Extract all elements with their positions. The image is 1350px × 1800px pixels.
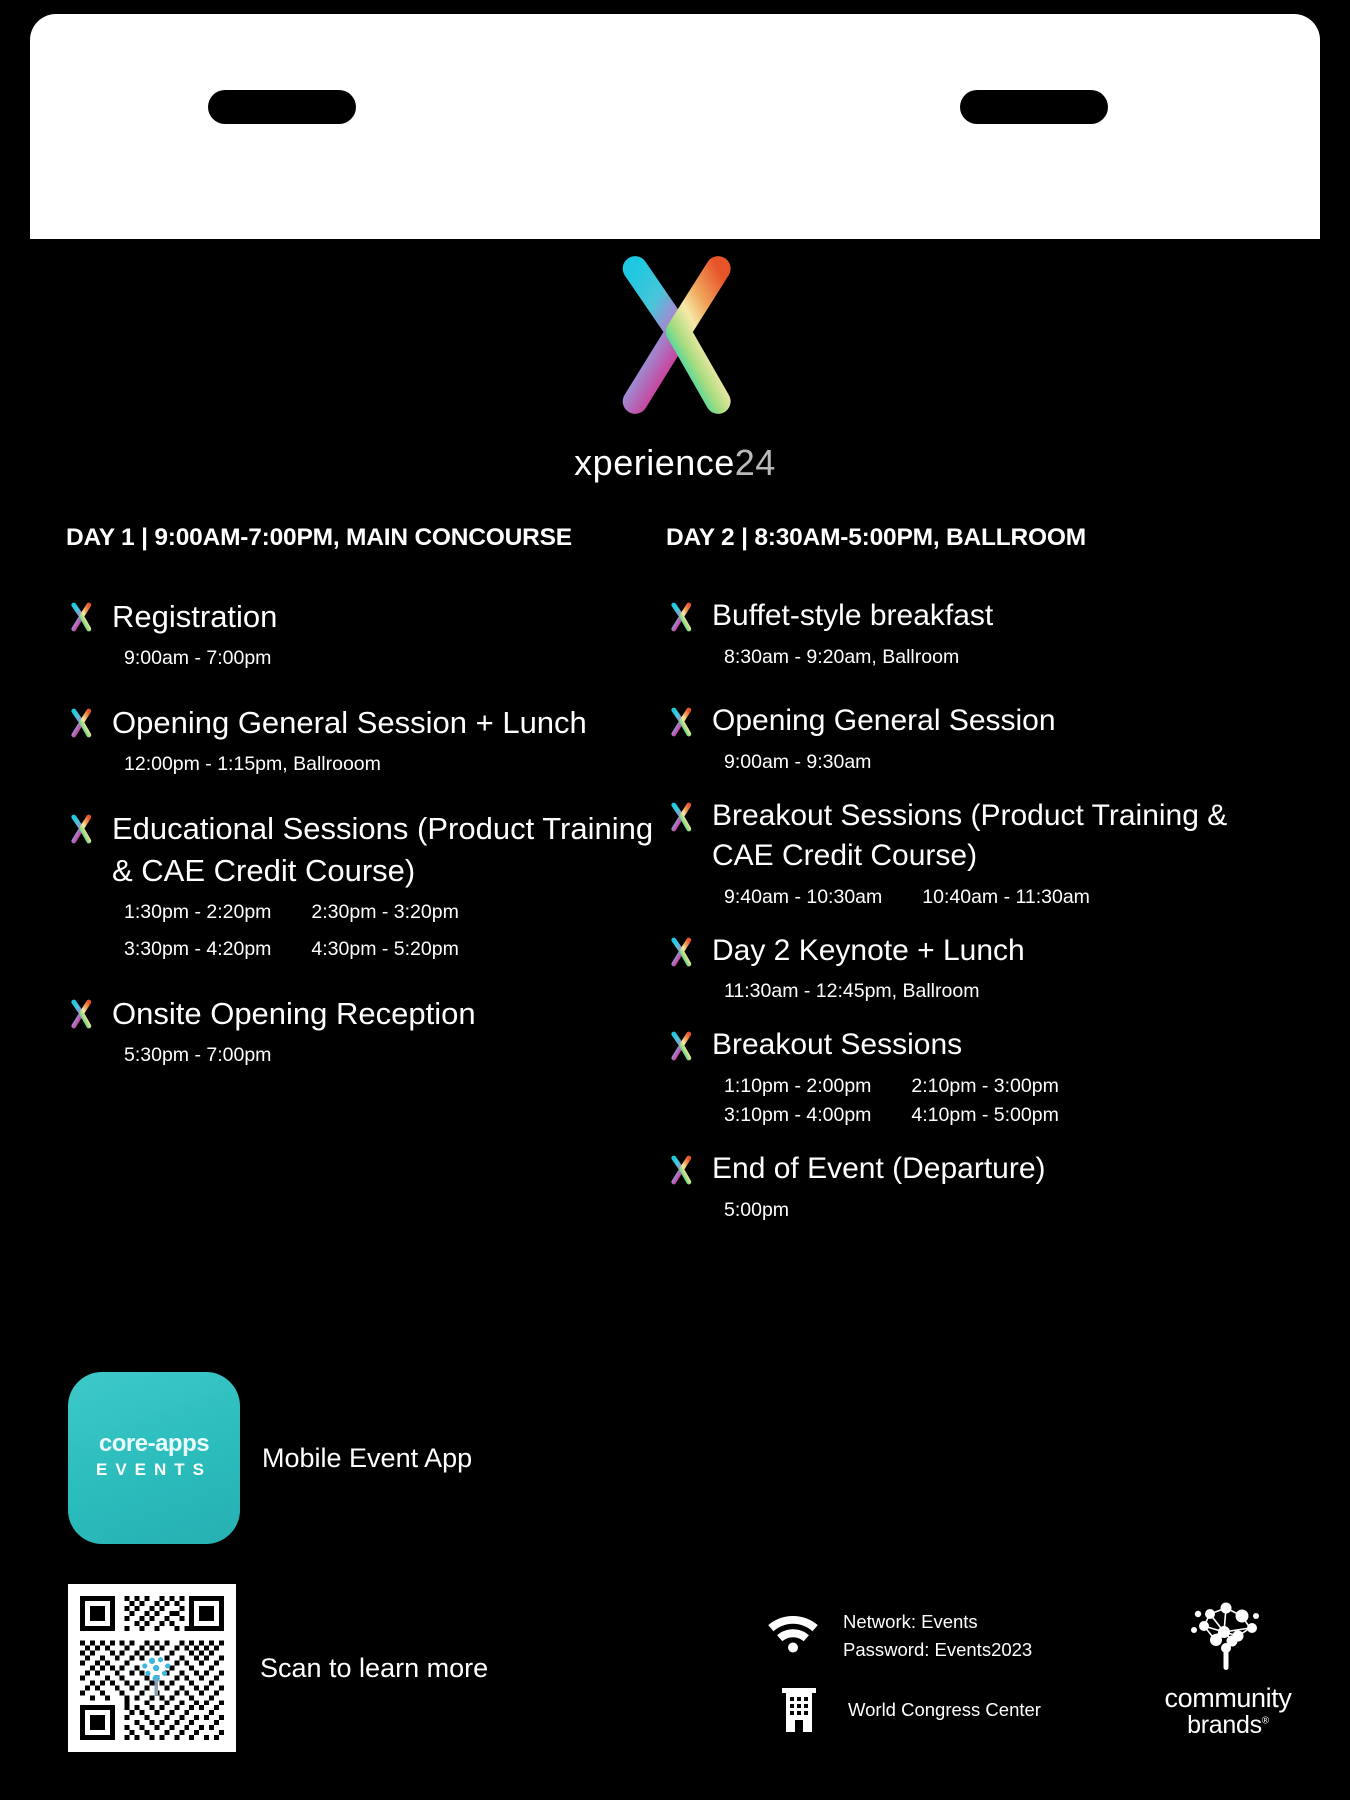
xperience-bullet-icon <box>666 1031 696 1061</box>
schedule-item: Opening General Session + Lunch 12:00pm … <box>66 702 666 776</box>
lanyard-slot-right <box>960 90 1108 124</box>
xperience-bullet-icon <box>666 1155 696 1185</box>
item-times: 1:30pm - 2:20pm 2:30pm - 3:20pm 3:30pm -… <box>124 901 666 961</box>
schedule-item: Registration 9:00am - 7:00pm <box>66 596 666 670</box>
day-1-header: DAY 1 | 9:00AM-7:00PM, MAIN CONCOURSE <box>66 524 666 552</box>
wifi-info-block: Network: Events Password: Events2023 <box>765 1608 1032 1664</box>
time-slot: 3:30pm - 4:20pm <box>124 938 271 961</box>
item-times: 1:10pm - 2:00pm 2:10pm - 3:00pm 3:10pm -… <box>724 1075 1286 1127</box>
schedule-item: Onsite Opening Reception 5:30pm - 7:00pm <box>66 993 666 1067</box>
time-slot: 2:30pm - 3:20pm <box>311 901 458 924</box>
wifi-text: Network: Events Password: Events2023 <box>843 1608 1032 1664</box>
time-row: 9:00am - 7:00pm <box>124 647 666 670</box>
item-title: Buffet-style breakfast <box>712 596 1286 636</box>
schedule-item: Buffet-style breakfast 8:30am - 9:20am, … <box>666 596 1286 669</box>
time-slot: 1:10pm - 2:00pm <box>724 1075 871 1098</box>
time-row: 9:40am - 10:30am 10:40am - 11:30am <box>724 886 1286 909</box>
time-slot: 10:40am - 11:30am <box>922 886 1090 909</box>
time-row: 3:30pm - 4:20pm 4:30pm - 5:20pm <box>124 938 666 961</box>
wordmark-text: xperience <box>574 442 735 483</box>
qr-code-icon[interactable] <box>68 1584 236 1752</box>
building-icon <box>780 1688 818 1732</box>
item-times: 9:40am - 10:30am 10:40am - 11:30am <box>724 886 1286 909</box>
time-row: 5:00pm <box>724 1199 1286 1222</box>
wordmark-year: 24 <box>735 442 776 483</box>
schedule-item: Educational Sessions (Product Training &… <box>66 808 666 960</box>
time-slot: 4:10pm - 5:00pm <box>911 1104 1058 1127</box>
brands-text: brands <box>1187 1711 1262 1739</box>
xperience-bullet-icon <box>666 707 696 737</box>
item-title: Breakout Sessions <box>712 1025 1286 1065</box>
xperience-x-logo-icon <box>592 252 758 418</box>
item-title: End of Event (Departure) <box>712 1149 1286 1189</box>
xperience-bullet-icon <box>66 814 96 844</box>
venue-block: World Congress Center <box>780 1688 1041 1732</box>
day-2-column: DAY 2 | 8:30AM-5:00PM, BALLROOM Buffet-s… <box>666 524 1286 1236</box>
item-title: Registration <box>112 596 666 637</box>
time-slot: 9:40am - 10:30am <box>724 886 882 909</box>
day-1-column: DAY 1 | 9:00AM-7:00PM, MAIN CONCOURSE Re… <box>66 524 666 1081</box>
mobile-app-block: core-apps EVENTS Mobile Event App <box>68 1372 472 1544</box>
time-slot: 12:00pm - 1:15pm, Ballrooom <box>124 753 381 776</box>
wifi-network-line: Network: Events <box>843 1608 1032 1636</box>
time-slot: 3:10pm - 4:00pm <box>724 1104 871 1127</box>
events-wordmark: EVENTS <box>68 1460 240 1480</box>
day-2-header: DAY 2 | 8:30AM-5:00PM, BALLROOM <box>666 524 1286 552</box>
time-row: 8:30am - 9:20am, Ballroom <box>724 646 1286 669</box>
community-brands-name: community <box>1148 1685 1308 1712</box>
xperience-bullet-icon <box>66 602 96 632</box>
xperience-bullet-icon <box>666 802 696 832</box>
schedule-item: Breakout Sessions 1:10pm - 2:00pm 2:10pm… <box>666 1025 1286 1127</box>
schedule-item: Opening General Session 9:00am - 9:30am <box>666 701 1286 774</box>
time-slot: 11:30am - 12:45pm, Ballroom <box>724 980 979 1003</box>
item-title: Educational Sessions (Product Training &… <box>112 808 666 890</box>
qr-block: Scan to learn more <box>68 1584 488 1752</box>
time-slot: 9:00am - 9:30am <box>724 751 871 774</box>
xperience-bullet-icon <box>666 602 696 632</box>
core-apps-wordmark: core-apps <box>68 1430 240 1458</box>
item-title: Opening General Session + Lunch <box>112 702 666 743</box>
community-brands-tree-icon <box>1180 1600 1276 1674</box>
qr-label: Scan to learn more <box>260 1653 488 1684</box>
time-slot: 1:30pm - 2:20pm <box>124 901 271 924</box>
time-slot: 8:30am - 9:20am, Ballroom <box>724 646 959 669</box>
xperience-bullet-icon <box>666 937 696 967</box>
item-times: 12:00pm - 1:15pm, Ballrooom <box>124 753 666 776</box>
wifi-password-line: Password: Events2023 <box>843 1636 1032 1664</box>
time-slot: 9:00am - 7:00pm <box>124 647 271 670</box>
item-times: 8:30am - 9:20am, Ballroom <box>724 646 1286 669</box>
item-times: 9:00am - 7:00pm <box>124 647 666 670</box>
venue-name: World Congress Center <box>848 1699 1041 1721</box>
time-row: 11:30am - 12:45pm, Ballroom <box>724 980 1286 1003</box>
wifi-icon <box>765 1608 821 1654</box>
xperience-bullet-icon <box>66 708 96 738</box>
item-times: 9:00am - 9:30am <box>724 751 1286 774</box>
time-row: 12:00pm - 1:15pm, Ballrooom <box>124 753 666 776</box>
time-row: 9:00am - 9:30am <box>724 751 1286 774</box>
time-slot: 2:10pm - 3:00pm <box>911 1075 1058 1098</box>
xperience-bullet-icon <box>66 999 96 1029</box>
schedule-item: Day 2 Keynote + Lunch 11:30am - 12:45pm,… <box>666 931 1286 1004</box>
item-times: 5:30pm - 7:00pm <box>124 1044 666 1067</box>
item-title: Day 2 Keynote + Lunch <box>712 931 1286 971</box>
schedule-item: End of Event (Departure) 5:00pm <box>666 1149 1286 1222</box>
time-row: 5:30pm - 7:00pm <box>124 1044 666 1067</box>
core-apps-events-app-icon[interactable]: core-apps EVENTS <box>68 1372 240 1544</box>
time-row: 3:10pm - 4:00pm 4:10pm - 5:00pm <box>724 1104 1286 1127</box>
item-times: 11:30am - 12:45pm, Ballroom <box>724 980 1286 1003</box>
item-title: Breakout Sessions (Product Training & CA… <box>712 796 1286 876</box>
time-row: 1:30pm - 2:20pm 2:30pm - 3:20pm <box>124 901 666 924</box>
badge-card-top <box>30 14 1320 239</box>
item-times: 5:00pm <box>724 1199 1286 1222</box>
community-brands-sub: brands® <box>1148 1712 1308 1740</box>
item-title: Onsite Opening Reception <box>112 993 666 1034</box>
item-title: Opening General Session <box>712 701 1286 741</box>
brand-logo <box>0 252 1350 423</box>
time-slot: 5:30pm - 7:00pm <box>124 1044 271 1067</box>
community-brands-logo: community brands® <box>1148 1600 1308 1740</box>
time-slot: 5:00pm <box>724 1199 789 1222</box>
time-slot: 4:30pm - 5:20pm <box>311 938 458 961</box>
brand-wordmark: xperience24 <box>0 442 1350 484</box>
lanyard-slot-left <box>208 90 356 124</box>
mobile-app-label: Mobile Event App <box>262 1443 472 1474</box>
schedule-item: Breakout Sessions (Product Training & CA… <box>666 796 1286 909</box>
time-row: 1:10pm - 2:00pm 2:10pm - 3:00pm <box>724 1075 1286 1098</box>
